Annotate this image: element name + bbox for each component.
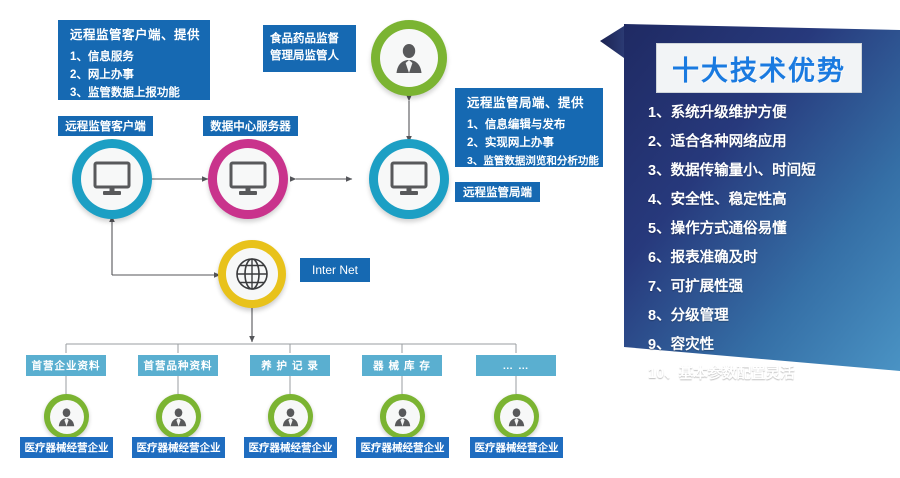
enterprise-person-1[interactable] xyxy=(156,394,201,439)
tag-remote-bureau: 远程监管局端 xyxy=(455,182,540,202)
bureau-info-item-1: 1、信息编辑与发布 xyxy=(467,117,593,135)
panel-advantage-item: 5、操作方式通俗易懂 xyxy=(648,222,898,237)
diagram-canvas: 远程监管客户端、提供 1、信息服务 2、网上办事 3、监管数据上报功能 食品药品… xyxy=(0,0,900,478)
client-info-title: 远程监管客户端、提供 xyxy=(70,28,200,43)
enterprise-label-0: 医疗器械经营企业 xyxy=(20,437,113,458)
panel-advantage-item: 4、安全性、稳定性高 xyxy=(648,193,898,208)
advantages-panel: 十大技术优势 1、系统升级维护方便 2、适合各种网络应用 3、数据传输量小、时间… xyxy=(600,18,900,406)
tag-remote-client: 远程监管客户端 xyxy=(58,116,153,136)
panel-advantage-item: 7、可扩展性强 xyxy=(648,280,898,295)
person-icon xyxy=(392,407,413,427)
panel-pointer xyxy=(600,26,624,58)
panel-advantage-list: 1、系统升级维护方便 2、适合各种网络应用 3、数据传输量小、时间短 4、安全性… xyxy=(648,106,898,396)
remote-bureau-monitor[interactable] xyxy=(369,139,449,219)
person-icon xyxy=(168,407,189,427)
client-info-box: 远程监管客户端、提供 1、信息服务 2、网上办事 3、监管数据上报功能 xyxy=(58,20,210,100)
globe-icon xyxy=(234,256,270,292)
bureau-info-box: 远程监管局端、提供 1、信息编辑与发布 2、实现网上办事 3、监管数据浏览和分析… xyxy=(455,88,603,167)
enterprise-label-1: 医疗器械经营企业 xyxy=(132,437,225,458)
leaf-tag-2: 养 护 记 录 xyxy=(250,355,330,376)
person-icon xyxy=(506,407,527,427)
tag-data-center: 数据中心服务器 xyxy=(203,116,298,136)
monitor-icon xyxy=(91,161,133,197)
monitor-icon xyxy=(388,161,430,197)
internet-globe[interactable] xyxy=(218,240,286,308)
person-icon xyxy=(280,407,301,427)
leaf-tag-4: … … xyxy=(476,355,556,376)
panel-title-text: 十大技术优势 xyxy=(672,49,846,88)
bureau-info-item-3: 3、监管数据浏览和分析功能 xyxy=(467,153,593,169)
enterprise-label-4: 医疗器械经营企业 xyxy=(470,437,563,458)
data-center-monitor[interactable] xyxy=(208,139,288,219)
client-info-item-3: 3、监管数据上报功能 xyxy=(70,85,200,103)
enterprise-person-0[interactable] xyxy=(44,394,89,439)
panel-advantage-item: 8、分级管理 xyxy=(648,309,898,324)
panel-advantage-item: 3、数据传输量小、时间短 xyxy=(648,164,898,179)
panel-advantage-item: 6、报表准确及时 xyxy=(648,251,898,266)
supervisor-person[interactable] xyxy=(371,20,447,96)
person-icon xyxy=(56,407,77,427)
leaf-tag-0: 首营企业资料 xyxy=(26,355,106,376)
supervisor-label-line2: 管理局监管人 xyxy=(270,48,349,65)
bureau-info-item-2: 2、实现网上办事 xyxy=(467,135,593,153)
supervisor-label-line1: 食品药品监督 xyxy=(270,31,349,48)
panel-advantage-item: 10、基本参数配置灵活 xyxy=(648,367,898,382)
enterprise-person-2[interactable] xyxy=(268,394,313,439)
leaf-tag-1: 首营品种资料 xyxy=(138,355,218,376)
enterprise-person-3[interactable] xyxy=(380,394,425,439)
enterprise-label-2: 医疗器械经营企业 xyxy=(244,437,337,458)
enterprise-label-3: 医疗器械经营企业 xyxy=(356,437,449,458)
leaf-tag-3: 器 械 库 存 xyxy=(362,355,442,376)
client-info-item-2: 2、网上办事 xyxy=(70,67,200,85)
tag-internet: Inter Net xyxy=(300,258,370,282)
remote-client-monitor[interactable] xyxy=(72,139,152,219)
client-info-item-1: 1、信息服务 xyxy=(70,49,200,67)
panel-advantage-item: 2、适合各种网络应用 xyxy=(648,135,898,150)
panel-title-box: 十大技术优势 xyxy=(656,43,862,93)
monitor-icon xyxy=(227,161,269,197)
panel-advantage-item: 1、系统升级维护方便 xyxy=(648,106,898,121)
supervisor-label-box: 食品药品监督 管理局监管人 xyxy=(263,25,356,72)
person-icon xyxy=(392,42,426,74)
enterprise-person-4[interactable] xyxy=(494,394,539,439)
panel-advantage-item: 9、容灾性 xyxy=(648,338,898,353)
bureau-info-title: 远程监管局端、提供 xyxy=(467,96,593,111)
